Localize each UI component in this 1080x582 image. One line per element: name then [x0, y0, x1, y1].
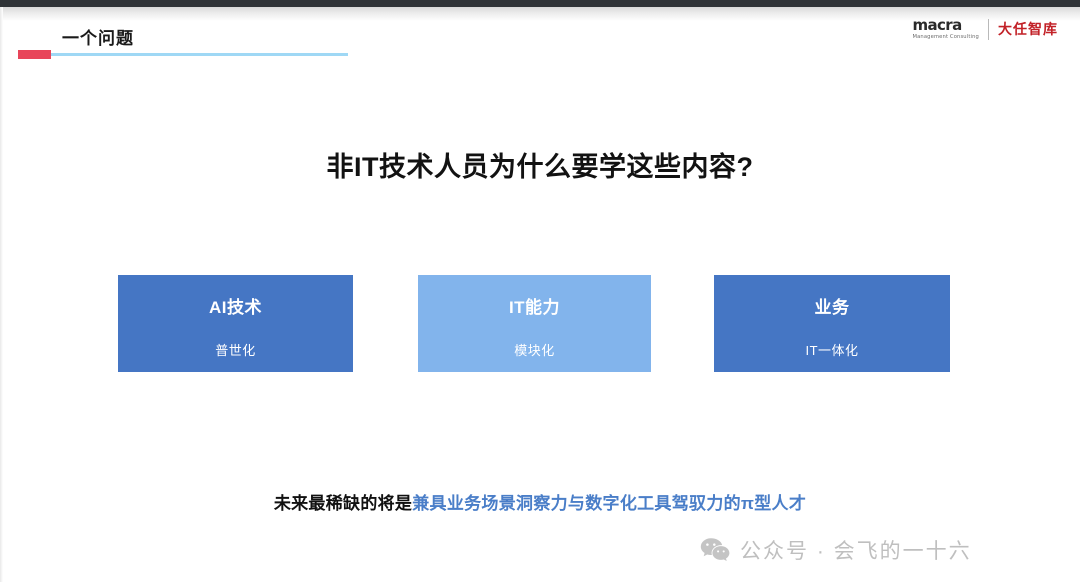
page-title: 非IT技术人员为什么要学这些内容? — [0, 145, 1080, 184]
pillar-card-ai[interactable]: AI技术 普世化 — [118, 275, 353, 372]
pillar-title: AI技术 — [209, 293, 262, 318]
pillar-card-business[interactable]: 业务 IT一体化 — [714, 275, 950, 372]
window-top-bar — [0, 0, 1080, 7]
accent-rule-blue — [51, 53, 348, 56]
watermark-text: 公众号 · 会飞的一十六 — [740, 535, 972, 565]
pillar-subtitle: IT一体化 — [805, 340, 858, 359]
brand-chinese-name: 大任智库 — [989, 19, 1058, 39]
slide-title: 一个问题 — [62, 24, 134, 49]
brand-logo-latin: macra Management Consulting — [912, 18, 988, 41]
accent-rule-red — [18, 50, 51, 59]
pillar-group: AI技术 普世化 IT能力 模块化 业务 IT一体化 — [118, 275, 950, 372]
pillar-title: 业务 — [815, 293, 850, 318]
watermark: 公众号 · 会飞的一十六 — [700, 533, 972, 567]
brand-wordmark: macra — [912, 18, 961, 33]
statement-highlight: 兼具业务场景洞察力与数字化工具驾驭力的π型人才 — [412, 494, 806, 513]
pillar-subtitle: 普世化 — [215, 340, 256, 359]
slide-canvas: 一个问题 macra Management Consulting 大任智库 非I… — [0, 0, 1080, 582]
brand-tagline: Management Consulting — [912, 34, 979, 41]
closing-statement: 未来最稀缺的将是兼具业务场景洞察力与数字化工具驾驭力的π型人才 — [0, 489, 1080, 514]
pillar-title: IT能力 — [509, 293, 560, 318]
pillar-card-it[interactable]: IT能力 模块化 — [418, 275, 651, 372]
pillar-subtitle: 模块化 — [514, 340, 555, 359]
statement-lead: 未来最稀缺的将是 — [274, 494, 412, 513]
wechat-icon — [700, 537, 730, 563]
brand-logo: macra Management Consulting 大任智库 — [912, 16, 1058, 42]
